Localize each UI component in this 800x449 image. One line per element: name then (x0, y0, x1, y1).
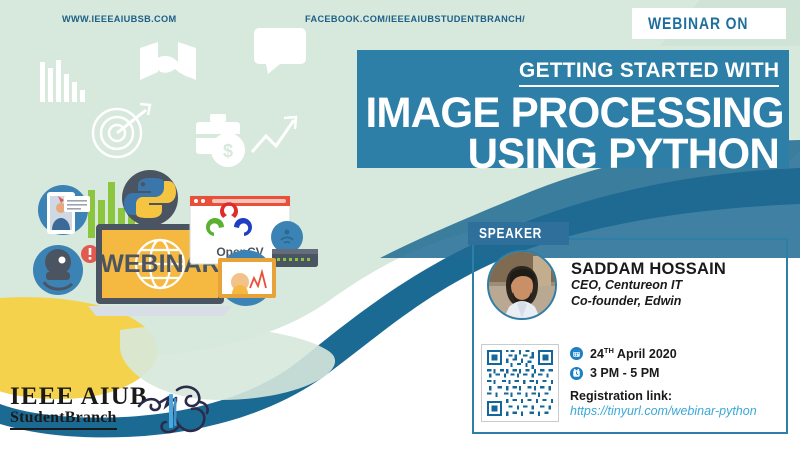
presentation-icon (218, 250, 276, 306)
logo-bar: IEEE AIUB StudentBranch Φ (0, 378, 470, 444)
qr-code[interactable] (481, 344, 559, 422)
webcam-icon (33, 245, 83, 295)
title-banner: GETTING STARTED WITH IMAGE PROCESSING US… (357, 50, 789, 168)
speaker-tag: SPEAKER (468, 222, 569, 245)
website-link[interactable]: WWW.IEEEAIUBSB.COM (62, 14, 177, 24)
ieee-aiub-student-branch-logo: IEEE AIUB StudentBranch (10, 384, 148, 430)
registration-link[interactable]: https://tinyurl.com/webinar-python (570, 404, 788, 418)
target-bullseye-icon (93, 104, 150, 157)
date-ordinal: TH (604, 346, 614, 355)
event-details: 24TH April 2020 3 PM - 5 PM Registration… (570, 346, 788, 418)
svg-text:$: $ (223, 141, 233, 161)
date-month-year: April 2020 (614, 347, 677, 361)
speaker-name: SADDAM HOSSAIN (571, 260, 726, 278)
calendar-icon (570, 347, 583, 360)
speaker-tag-label: SPEAKER (479, 225, 542, 242)
qr-code-image (485, 348, 555, 418)
date-row: 24TH April 2020 (570, 346, 788, 361)
student-branch-text: StudentBranch (10, 410, 117, 430)
speaker-role-2: Co-founder, Edwin (571, 294, 726, 310)
bangla-script-logo (133, 380, 213, 442)
speaker-portrait (489, 252, 555, 318)
speaker-role-1: CEO, Centureon IT (571, 278, 726, 294)
id-card-icon (38, 185, 90, 235)
wifi-router-icon (271, 221, 318, 267)
facebook-link[interactable]: FACEBOOK.COM/IEEEAIUBSTUDENTBRANCH/ (305, 14, 525, 24)
clock-icon (570, 367, 583, 380)
time-row: 3 PM - 5 PM (570, 366, 788, 380)
speaker-text: SADDAM HOSSAIN CEO, Centureon IT Co-foun… (571, 260, 726, 309)
ieee-aiub-text: IEEE AIUB (10, 384, 148, 409)
handshake-icon (140, 42, 196, 80)
title-line-1: IMAGE PROCESSING (365, 93, 779, 133)
title-line-2: USING PYTHON (365, 134, 779, 174)
webinar-poster: $ (0, 0, 800, 449)
avatar (487, 250, 557, 320)
speaker-info: SADDAM HOSSAIN CEO, Centureon IT Co-foun… (487, 250, 726, 320)
webinar-on-label: WEBINAR ON (648, 14, 748, 34)
speech-bubble-icon (254, 28, 306, 74)
growth-arrow-icon (252, 117, 296, 152)
dollar-shield-icon: $ (211, 133, 245, 167)
python-logo-icon (122, 170, 178, 226)
bar-chart-icon (40, 60, 85, 102)
title-subtitle: GETTING STARTED WITH (519, 58, 779, 87)
event-date: 24TH April 2020 (590, 346, 677, 361)
registration-label: Registration link: (570, 389, 788, 403)
event-time: 3 PM - 5 PM (590, 366, 659, 380)
webinar-on-badge: WEBINAR ON (632, 8, 786, 39)
